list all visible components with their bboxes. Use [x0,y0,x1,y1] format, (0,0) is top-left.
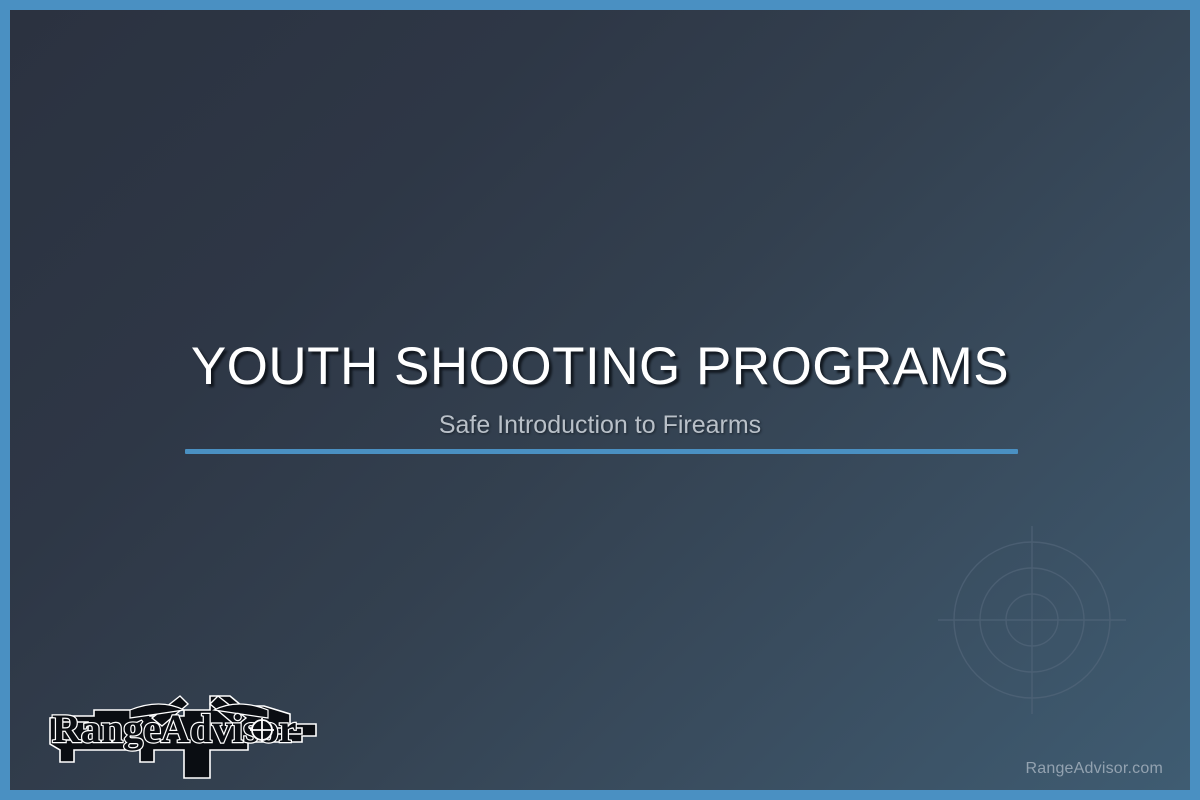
crosshair-target-icon [922,510,1142,730]
title-divider [185,449,1018,454]
title-block: YOUTH SHOOTING PROGRAMS Safe Introductio… [10,336,1190,440]
brand-logo: RangeAdvisor [34,666,326,786]
page-subtitle: Safe Introduction to Firearms [10,411,1190,440]
page-title: YOUTH SHOOTING PROGRAMS [10,336,1190,397]
footer-url: RangeAdvisor.com [1026,760,1164,778]
slide-frame: YOUTH SHOOTING PROGRAMS Safe Introductio… [0,0,1200,800]
slide-canvas: YOUTH SHOOTING PROGRAMS Safe Introductio… [10,10,1190,790]
